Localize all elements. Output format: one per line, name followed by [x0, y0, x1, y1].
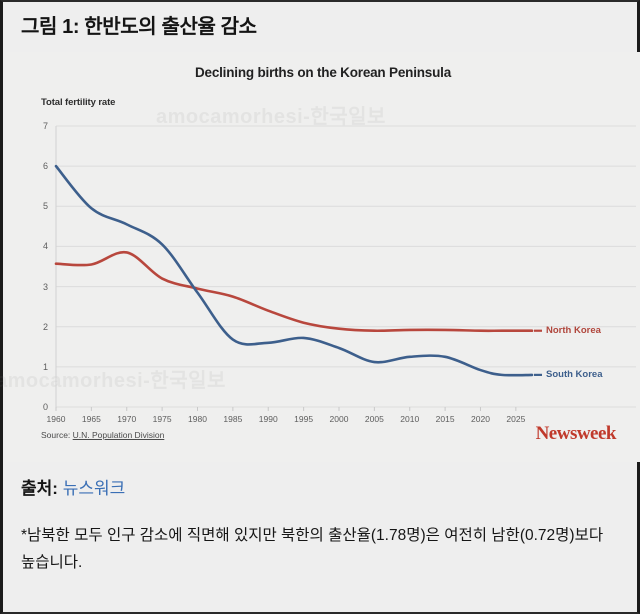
y-tick-label: 2: [26, 322, 48, 332]
y-tick-label: 6: [26, 161, 48, 171]
x-tick-label: 2020: [471, 414, 490, 424]
chart-source: Source: U.N. Population Division: [41, 430, 164, 440]
axis-lines: [56, 126, 516, 411]
x-tick-label: 2015: [436, 414, 455, 424]
x-tick-label: 1985: [223, 414, 242, 424]
y-tick-label: 7: [26, 121, 48, 131]
y-tick-label: 1: [26, 362, 48, 372]
x-tick-label: 1975: [153, 414, 172, 424]
series-paths: [56, 166, 542, 375]
x-tick-label: 1990: [259, 414, 278, 424]
footnote: *남북한 모두 인구 감소에 직면해 있지만 북한의 출산율(1.78명)은 여…: [21, 522, 621, 576]
y-tick-label: 5: [26, 201, 48, 211]
newsweek-logo: Newsweek: [536, 423, 616, 445]
x-tick-label: 1965: [82, 414, 101, 424]
x-tick-label: 1980: [188, 414, 207, 424]
page-title: 그림 1: 한반도의 출산율 감소: [21, 10, 257, 39]
source-link[interactable]: U.N. Population Division: [73, 430, 165, 440]
gridlines: [56, 126, 636, 407]
x-tick-label: 1960: [47, 414, 66, 424]
x-tick-label: 2025: [506, 414, 525, 424]
x-tick-label: 2010: [400, 414, 419, 424]
chart-card: amocamorhesi-한국일보 amocamorhesi-한국일보 Decl…: [6, 52, 640, 462]
page-container: 그림 1: 한반도의 출산율 감소 amocamorhesi-한국일보 amoc…: [0, 0, 640, 614]
x-tick-label: 1970: [117, 414, 136, 424]
series-label-north-korea: North Korea: [546, 325, 601, 336]
y-tick-label: 4: [26, 241, 48, 251]
chart-svg: [6, 52, 640, 462]
x-tick-label: 2005: [365, 414, 384, 424]
attribution-label: 출처:: [21, 479, 58, 498]
series-line-south-korea: [56, 166, 532, 375]
y-tick-label: 0: [26, 402, 48, 412]
series-label-south-korea: South Korea: [546, 369, 602, 380]
x-tick-label: 2000: [330, 414, 349, 424]
plot-area: 01234567 1960196519701975198019851990199…: [6, 52, 640, 462]
x-tick-label: 1995: [294, 414, 313, 424]
source-prefix: Source:: [41, 430, 73, 440]
series-line-north-korea: [56, 252, 532, 331]
attribution-value[interactable]: 뉴스워크: [63, 479, 126, 498]
y-tick-label: 3: [26, 282, 48, 292]
attribution: 출처: 뉴스워크: [21, 474, 125, 499]
